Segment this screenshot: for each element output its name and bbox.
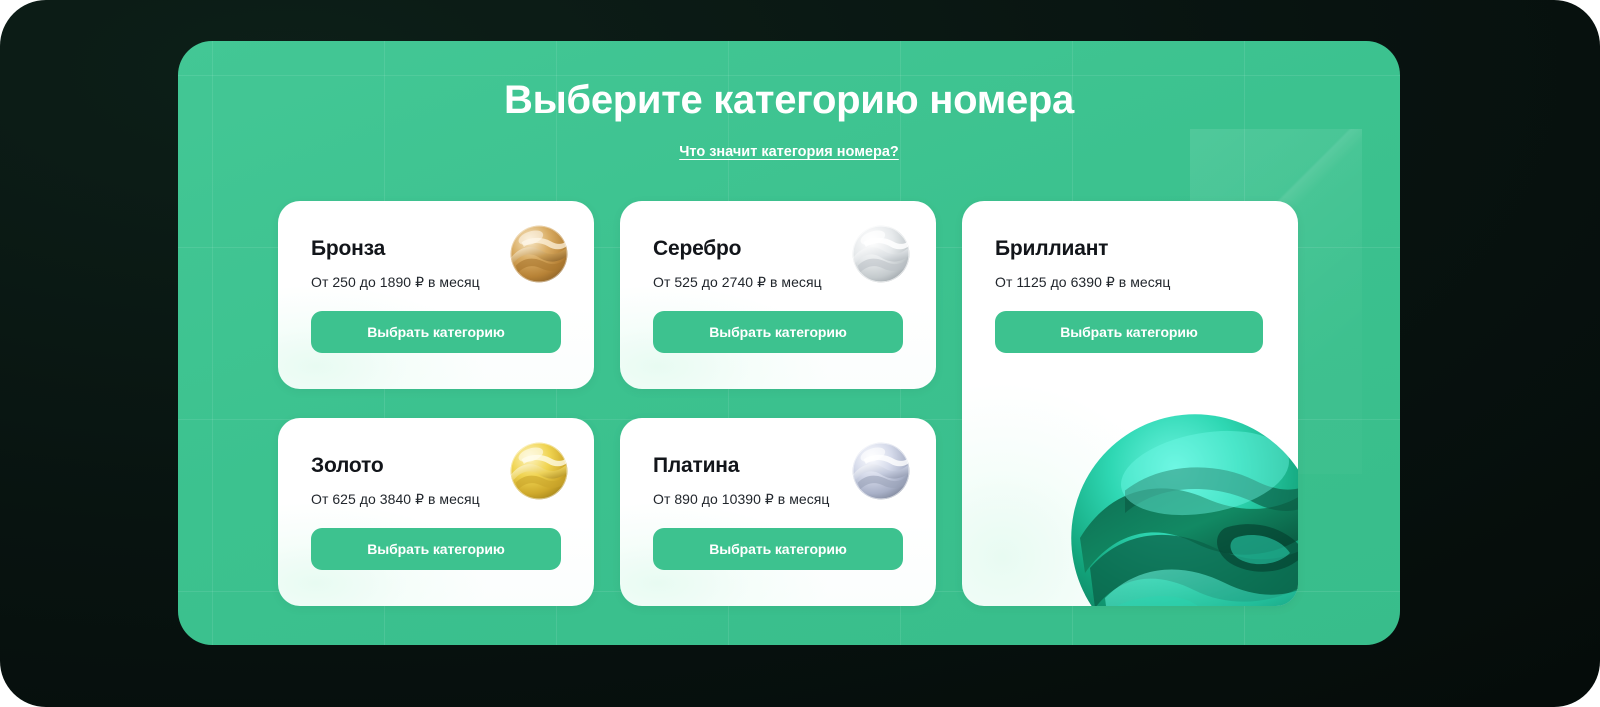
select-category-button-diamond[interactable]: Выбрать категорию <box>995 311 1263 353</box>
panel-header: Выберите категорию номера Что значит кат… <box>178 78 1400 161</box>
select-category-button-bronze[interactable]: Выбрать категорию <box>311 311 561 353</box>
card-title: Бронза <box>311 237 566 261</box>
card-price: От 625 до 3840 ₽ в месяц <box>311 491 566 508</box>
select-category-button-gold[interactable]: Выбрать категорию <box>311 528 561 570</box>
category-card-grid: Бронза От 250 до 1890 ₽ в месяц Выбрать … <box>278 201 1300 606</box>
card-title: Серебро <box>653 237 908 261</box>
category-card-bronze[interactable]: Бронза От 250 до 1890 ₽ в месяц Выбрать … <box>278 201 594 389</box>
category-help-link[interactable]: Что значит категория номера? <box>679 144 899 160</box>
card-head: Бронза От 250 до 1890 ₽ в месяц <box>311 237 566 291</box>
card-price: От 250 до 1890 ₽ в месяц <box>311 274 566 291</box>
card-head: Бриллиант От 1125 до 6390 ₽ в месяц <box>995 237 1270 291</box>
category-card-diamond[interactable]: Бриллиант От 1125 до 6390 ₽ в месяц Выбр… <box>962 201 1298 606</box>
category-card-gold[interactable]: Золото От 625 до 3840 ₽ в месяц Выбрать … <box>278 418 594 606</box>
page-title: Выберите категорию номера <box>178 78 1400 122</box>
card-price: От 525 до 2740 ₽ в месяц <box>653 274 908 291</box>
select-category-button-platinum[interactable]: Выбрать категорию <box>653 528 903 570</box>
category-card-silver[interactable]: Серебро От 525 до 2740 ₽ в месяц Выбрать… <box>620 201 936 389</box>
card-head: Серебро От 525 до 2740 ₽ в месяц <box>653 237 908 291</box>
card-title: Золото <box>311 454 566 478</box>
card-head: Золото От 625 до 3840 ₽ в месяц <box>311 454 566 508</box>
card-price: От 1125 до 6390 ₽ в месяц <box>995 274 1270 291</box>
card-title: Бриллиант <box>995 237 1270 261</box>
category-card-platinum[interactable]: Платина От 890 до 10390 ₽ в месяц Выбрат… <box>620 418 936 606</box>
card-title: Платина <box>653 454 908 478</box>
card-price: От 890 до 10390 ₽ в месяц <box>653 491 908 508</box>
category-panel: Выберите категорию номера Что значит кат… <box>178 41 1400 645</box>
card-head: Платина От 890 до 10390 ₽ в месяц <box>653 454 908 508</box>
select-category-button-silver[interactable]: Выбрать категорию <box>653 311 903 353</box>
screen-root: Выберите категорию номера Что значит кат… <box>0 0 1600 707</box>
emerald-sphere-icon <box>1070 413 1298 606</box>
